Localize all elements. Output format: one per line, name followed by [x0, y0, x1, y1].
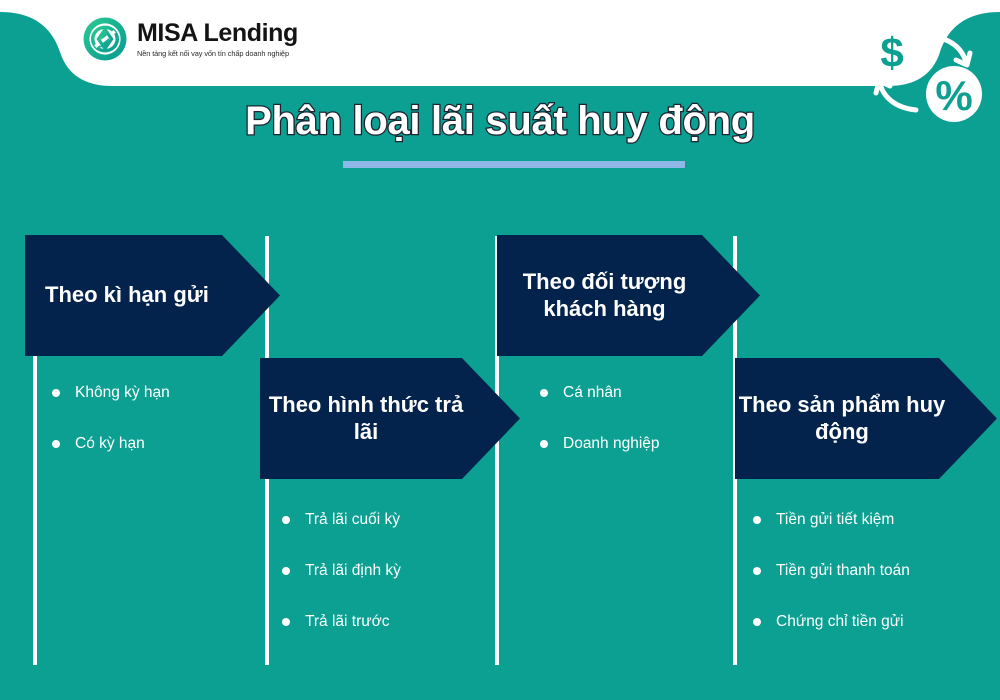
list-item-label: Doanh nghiệp — [563, 435, 660, 453]
category-banner-4-label: Theo sản phẩm huy động — [735, 392, 997, 446]
list-item-label: Tiền gửi tiết kiệm — [776, 511, 894, 529]
misa-circular-leaf-logo-icon — [82, 16, 128, 62]
list-item-label: Cá nhân — [563, 384, 622, 402]
category-banner-4[interactable]: Theo sản phẩm huy động — [735, 358, 997, 479]
bullet-dot-icon — [753, 516, 761, 524]
bullet-dot-icon — [52, 440, 60, 448]
brand-text-block: MISA Lending Nền tảng kết nối vay vốn tí… — [137, 20, 298, 57]
bullet-dot-icon — [540, 389, 548, 397]
list-item[interactable]: Tiền gửi thanh toán — [753, 545, 910, 596]
brand-tagline: Nền tảng kết nối vay vốn tín chấp doanh … — [137, 49, 298, 58]
list-item-label: Tiền gửi thanh toán — [776, 562, 910, 580]
list-item-label: Không kỳ hạn — [75, 384, 170, 402]
bullet-dot-icon — [282, 567, 290, 575]
bullet-dot-icon — [540, 440, 548, 448]
list-item-label: Trả lãi trước — [305, 613, 390, 631]
brand-name: MISA Lending — [137, 20, 298, 46]
bullet-dot-icon — [753, 567, 761, 575]
category-banner-2[interactable]: Theo hình thức trả lãi — [260, 358, 520, 479]
list-item-label: Có kỳ hạn — [75, 435, 145, 453]
curved-arrow-down-right-icon — [930, 36, 970, 65]
category-1-item-list: Không kỳ hạn Có kỳ hạn — [52, 367, 170, 469]
list-item[interactable]: Trả lãi định kỳ — [282, 545, 401, 596]
category-banner-3-label: Theo đối tượng khách hàng — [497, 269, 760, 323]
list-item[interactable]: Trả lãi trước — [282, 596, 401, 647]
list-item-label: Chứng chỉ tiền gửi — [776, 613, 904, 631]
category-4-item-list: Tiền gửi tiết kiệm Tiền gửi thanh toán C… — [753, 494, 910, 647]
list-item[interactable]: Có kỳ hạn — [52, 418, 170, 469]
list-item[interactable]: Tiền gửi tiết kiệm — [753, 494, 910, 545]
list-item-label: Trả lãi cuối kỳ — [305, 511, 400, 529]
bullet-dot-icon — [753, 618, 761, 626]
category-banner-1-label: Theo kì hạn gửi — [25, 282, 280, 309]
list-item[interactable]: Doanh nghiệp — [540, 418, 660, 469]
category-banner-1[interactable]: Theo kì hạn gửi — [25, 235, 280, 356]
list-item[interactable]: Không kỳ hạn — [52, 367, 170, 418]
brand-logo-block: MISA Lending Nền tảng kết nối vay vốn tí… — [82, 16, 298, 62]
category-3-item-list: Cá nhân Doanh nghiệp — [540, 367, 660, 469]
list-item[interactable]: Cá nhân — [540, 367, 660, 418]
category-banner-3[interactable]: Theo đối tượng khách hàng — [497, 235, 760, 356]
dollar-symbol: $ — [880, 29, 903, 76]
list-item[interactable]: Chứng chỉ tiền gửi — [753, 596, 910, 647]
bullet-dot-icon — [52, 389, 60, 397]
category-banner-2-label: Theo hình thức trả lãi — [260, 392, 520, 446]
bullet-dot-icon — [282, 516, 290, 524]
title-underline — [343, 161, 685, 168]
list-item[interactable]: Trả lãi cuối kỳ — [282, 494, 401, 545]
page-title: Phân loại lãi suất huy động — [0, 99, 1000, 144]
list-item-label: Trả lãi định kỳ — [305, 562, 401, 580]
bullet-dot-icon — [282, 618, 290, 626]
category-2-item-list: Trả lãi cuối kỳ Trả lãi định kỳ Trả lãi … — [282, 494, 401, 647]
